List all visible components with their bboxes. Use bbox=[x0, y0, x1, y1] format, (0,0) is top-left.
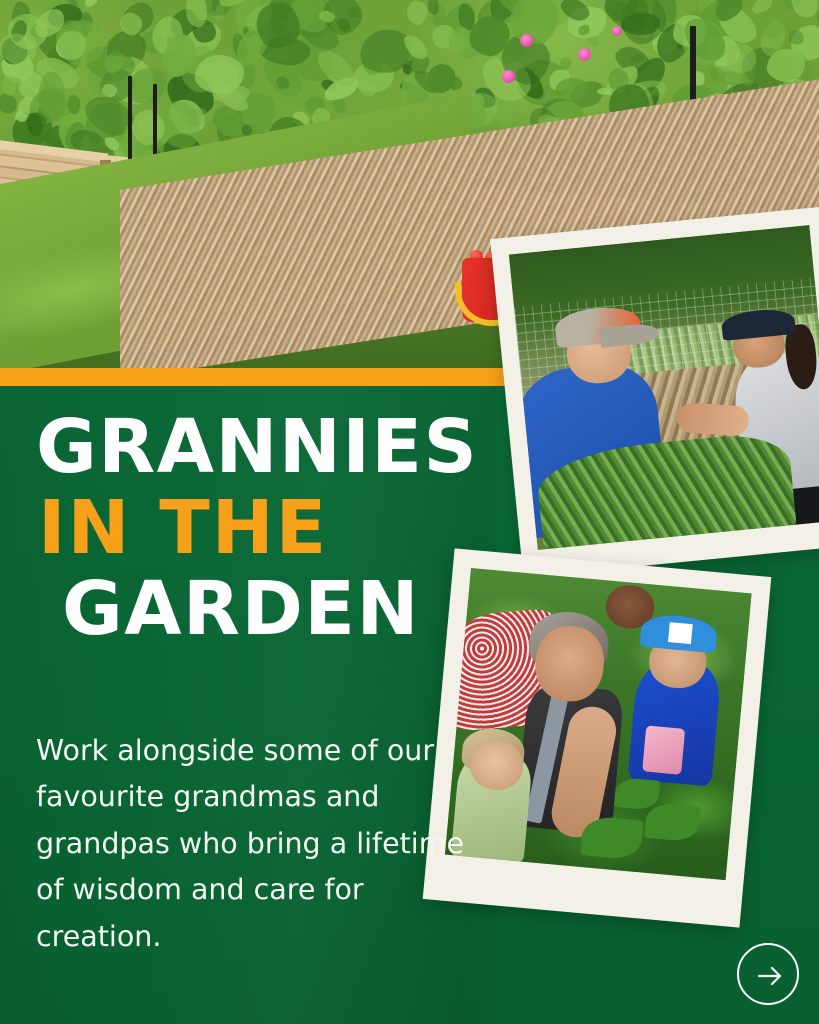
page-title: GRANNIES IN THE GARDEN bbox=[36, 412, 506, 645]
orange-divider-bar bbox=[0, 368, 508, 386]
next-arrow-button[interactable] bbox=[737, 943, 799, 1005]
polaroid-onion-harvest bbox=[490, 206, 819, 577]
cosmos-flower-3 bbox=[502, 70, 515, 83]
arrow-right-icon bbox=[754, 960, 786, 992]
poster-root: GRANNIES IN THE GARDEN Work alongside so… bbox=[0, 0, 819, 1024]
cosmos-flower-4 bbox=[612, 26, 622, 36]
cosmos-flower-1 bbox=[520, 34, 533, 47]
headline-line-2: IN THE bbox=[38, 493, 506, 564]
polaroid-onion-harvest-image bbox=[509, 225, 819, 550]
headline-line-1: GRANNIES bbox=[36, 412, 506, 483]
cap-logo-icon bbox=[668, 622, 692, 644]
girl-arm bbox=[676, 402, 750, 436]
cosmos-flower-2 bbox=[578, 48, 591, 61]
body-paragraph: Work alongside some of our favourite gra… bbox=[36, 728, 466, 960]
headline-line-3: GARDEN bbox=[62, 574, 506, 645]
child-pink-bag bbox=[642, 726, 685, 775]
